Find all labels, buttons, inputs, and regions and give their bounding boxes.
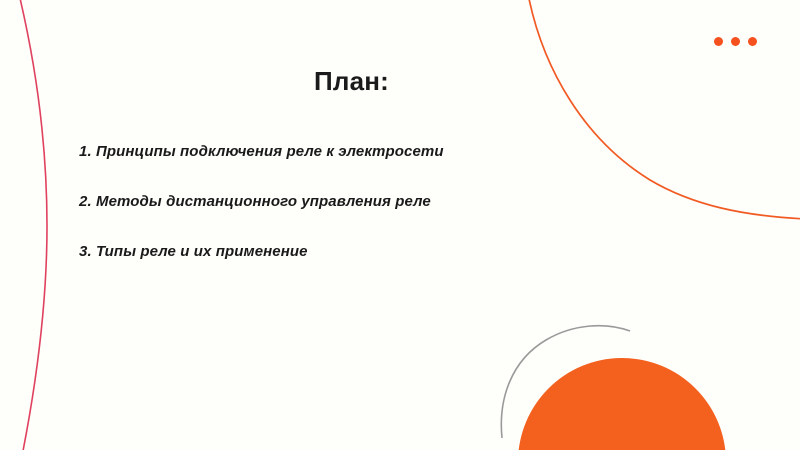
slide-content: План: 1. Принципы подключения реле к эле… <box>0 0 800 450</box>
plan-list: 1. Принципы подключения реле к электросе… <box>79 141 599 291</box>
list-item: 1. Принципы подключения реле к электросе… <box>79 141 599 191</box>
list-item: 2. Методы дистанционного управления реле <box>79 191 599 241</box>
list-item: 3. Типы реле и их применение <box>79 241 599 291</box>
presentation-slide: План: 1. Принципы подключения реле к эле… <box>0 0 800 450</box>
page-title: План: <box>60 66 643 96</box>
